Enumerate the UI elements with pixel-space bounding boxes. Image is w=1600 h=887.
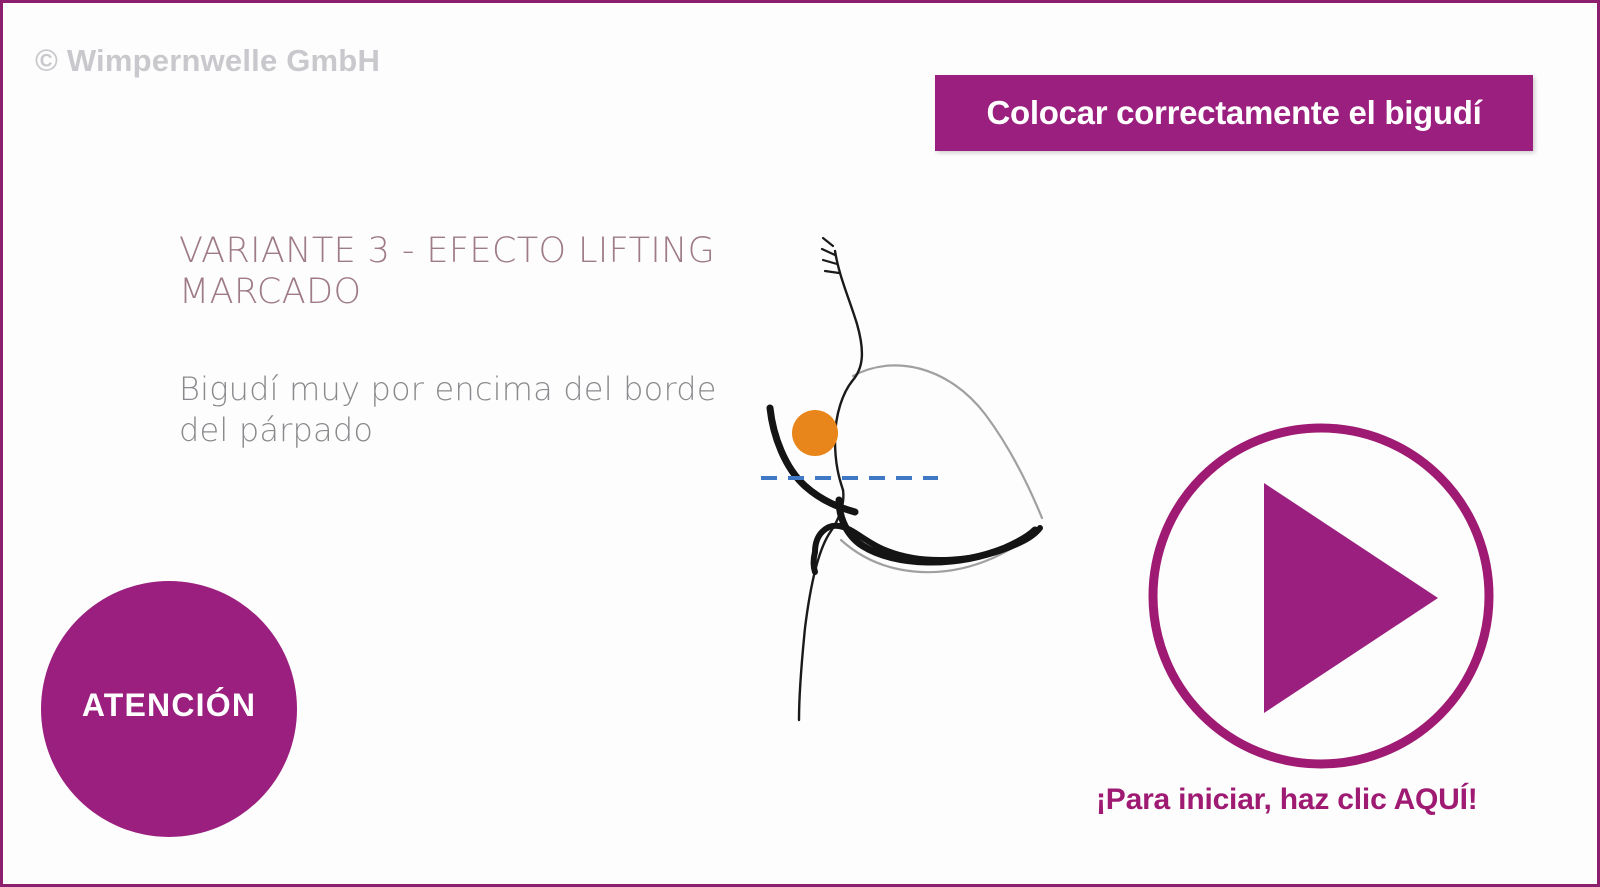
attention-badge: ATENCIÓN (41, 581, 297, 837)
face-profile-path (835, 251, 862, 490)
upper-eyelid-outline-path (853, 365, 1042, 518)
attention-badge-label: ATENCIÓN (82, 687, 256, 724)
eye-profile-diagram (743, 228, 1073, 728)
copyright-notice: © Wimpernwelle GmbH (35, 43, 380, 79)
slide-canvas: © Wimpernwelle GmbH Colocar correctament… (0, 0, 1600, 887)
lash-secondary-path (815, 526, 1040, 560)
lash-hook-path (814, 552, 816, 572)
eye-profile-svg (743, 228, 1073, 728)
content-text-block: VARIANTE 3 - EFECTO LIFTING MARCADO Bigu… (179, 231, 719, 451)
header-banner-title: Colocar correctamente el bigudí (987, 94, 1482, 132)
variant-title: VARIANTE 3 - EFECTO LIFTING MARCADO (179, 231, 719, 313)
header-banner: Colocar correctamente el bigudí (935, 75, 1533, 151)
play-button[interactable] (1146, 421, 1496, 771)
start-cta-label[interactable]: ¡Para iniciar, haz clic AQUÍ! (1096, 783, 1478, 817)
rod-position-marker (792, 410, 838, 456)
play-triangle-icon[interactable] (1264, 483, 1438, 713)
play-button-svg[interactable] (1146, 421, 1496, 771)
variant-description: Bigudí muy por encima del borde del párp… (179, 369, 719, 451)
